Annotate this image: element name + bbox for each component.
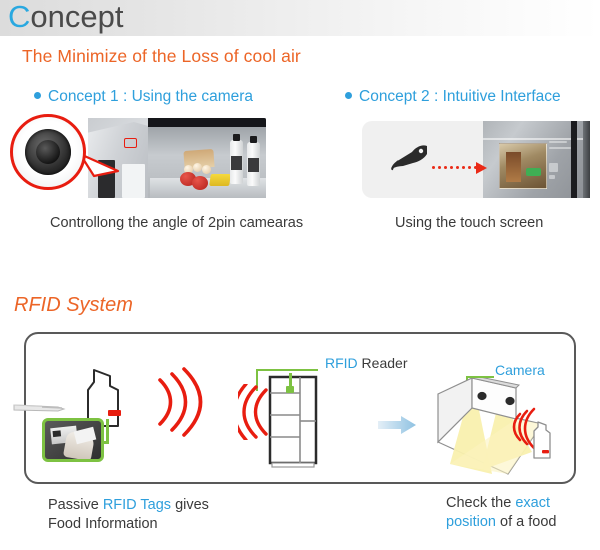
concept-1-figure (88, 118, 266, 198)
caption-post: of a food (496, 514, 556, 530)
rfid-signal-waves-right (154, 366, 206, 438)
slide-root: Concept The Minimize of the Loss of cool… (0, 0, 600, 550)
concept-subtitle: The Minimize of the Loss of cool air (22, 46, 301, 67)
caption-pre: Passive (48, 497, 103, 513)
label-camera-highlight: Camera (495, 362, 545, 378)
bottle-icon (230, 140, 243, 184)
rfid-signal-waves-left (238, 384, 272, 440)
arrow-head-icon (476, 162, 487, 174)
page-title-initial: C (8, 0, 30, 34)
label-rfid-reader-plain: Reader (358, 355, 408, 371)
rfid-tag-caption-line1: Passive RFID Tags gives (48, 496, 209, 515)
tomato-icon (192, 176, 208, 190)
bullet-icon (34, 92, 41, 99)
egg-icon (202, 165, 211, 174)
bottle-icon (247, 142, 260, 186)
page-title-rest: oncept (30, 0, 123, 34)
rfid-section-title: RFID System (14, 294, 133, 317)
camera-position-caption-line1: Check the exact (446, 494, 556, 513)
door-light-block (122, 164, 145, 198)
egg-icon (193, 163, 202, 172)
fridge-touch-screen (499, 143, 547, 189)
camera-position-caption: Check the exact position of a food (446, 494, 556, 532)
bullet-icon (345, 92, 352, 99)
rfid-tag-icon (108, 410, 121, 416)
hand-pointer-icon (389, 143, 431, 175)
caption-highlight: position (446, 514, 496, 530)
screen-product-image (506, 152, 521, 182)
label-rfid-reader-highlight: RFID (325, 355, 358, 371)
mini-icon (549, 163, 558, 172)
tag-link-riser (106, 419, 109, 431)
caption-highlight: exact (515, 495, 550, 511)
caption-highlight: RFID Tags (103, 497, 171, 513)
fridge-side-edge (583, 121, 590, 198)
camera-position-caption-line2: position of a food (446, 513, 556, 532)
fridge-top-bar (148, 118, 266, 127)
reader-marker-dot (286, 386, 294, 393)
concept-2-caption: Using the touch screen (395, 215, 543, 231)
page-title: Concept (8, 0, 123, 36)
mini-icon (549, 175, 555, 179)
label-rfid-reader: RFID Reader (325, 355, 407, 371)
concept-2-figure (362, 121, 590, 198)
concept-1-heading-text: Concept 1 : Using the camera (48, 88, 253, 105)
rfid-tag-caption: Passive RFID Tags gives Food Information (48, 496, 209, 534)
camera-coverage-3d-scene (420, 378, 560, 480)
concept-2-heading-text: Concept 2 : Intuitive Interface (359, 88, 561, 105)
screen-green-tag (526, 168, 541, 176)
rfid-tag-caption-line2: Food Information (48, 515, 209, 534)
fridge-front-photo (483, 121, 590, 198)
mini-icon (549, 141, 567, 143)
concept-2-heading: Concept 2 : Intuitive Interface (345, 88, 561, 106)
caption-post: gives (171, 497, 209, 513)
rfid-card-photo (42, 418, 104, 462)
rfid-reader-leader-horizontal (256, 369, 318, 371)
cheese-block (209, 174, 231, 186)
mini-icon (549, 147, 571, 149)
concept-1-heading: Concept 1 : Using the camera (34, 88, 253, 106)
touch-direction-arrow (432, 163, 486, 173)
concept-1-caption: Controllong the angle of 2pin camearas (50, 215, 303, 231)
camera-lens-icon (25, 129, 71, 175)
caption-pre: Check the (446, 495, 515, 511)
flow-arrow-icon (378, 416, 416, 434)
fridge-handle (571, 121, 577, 198)
camera-location-marker (124, 138, 137, 148)
camera-lens-callout (10, 114, 86, 190)
label-camera: Camera (495, 362, 545, 378)
fork-utensil-icon (12, 396, 86, 420)
